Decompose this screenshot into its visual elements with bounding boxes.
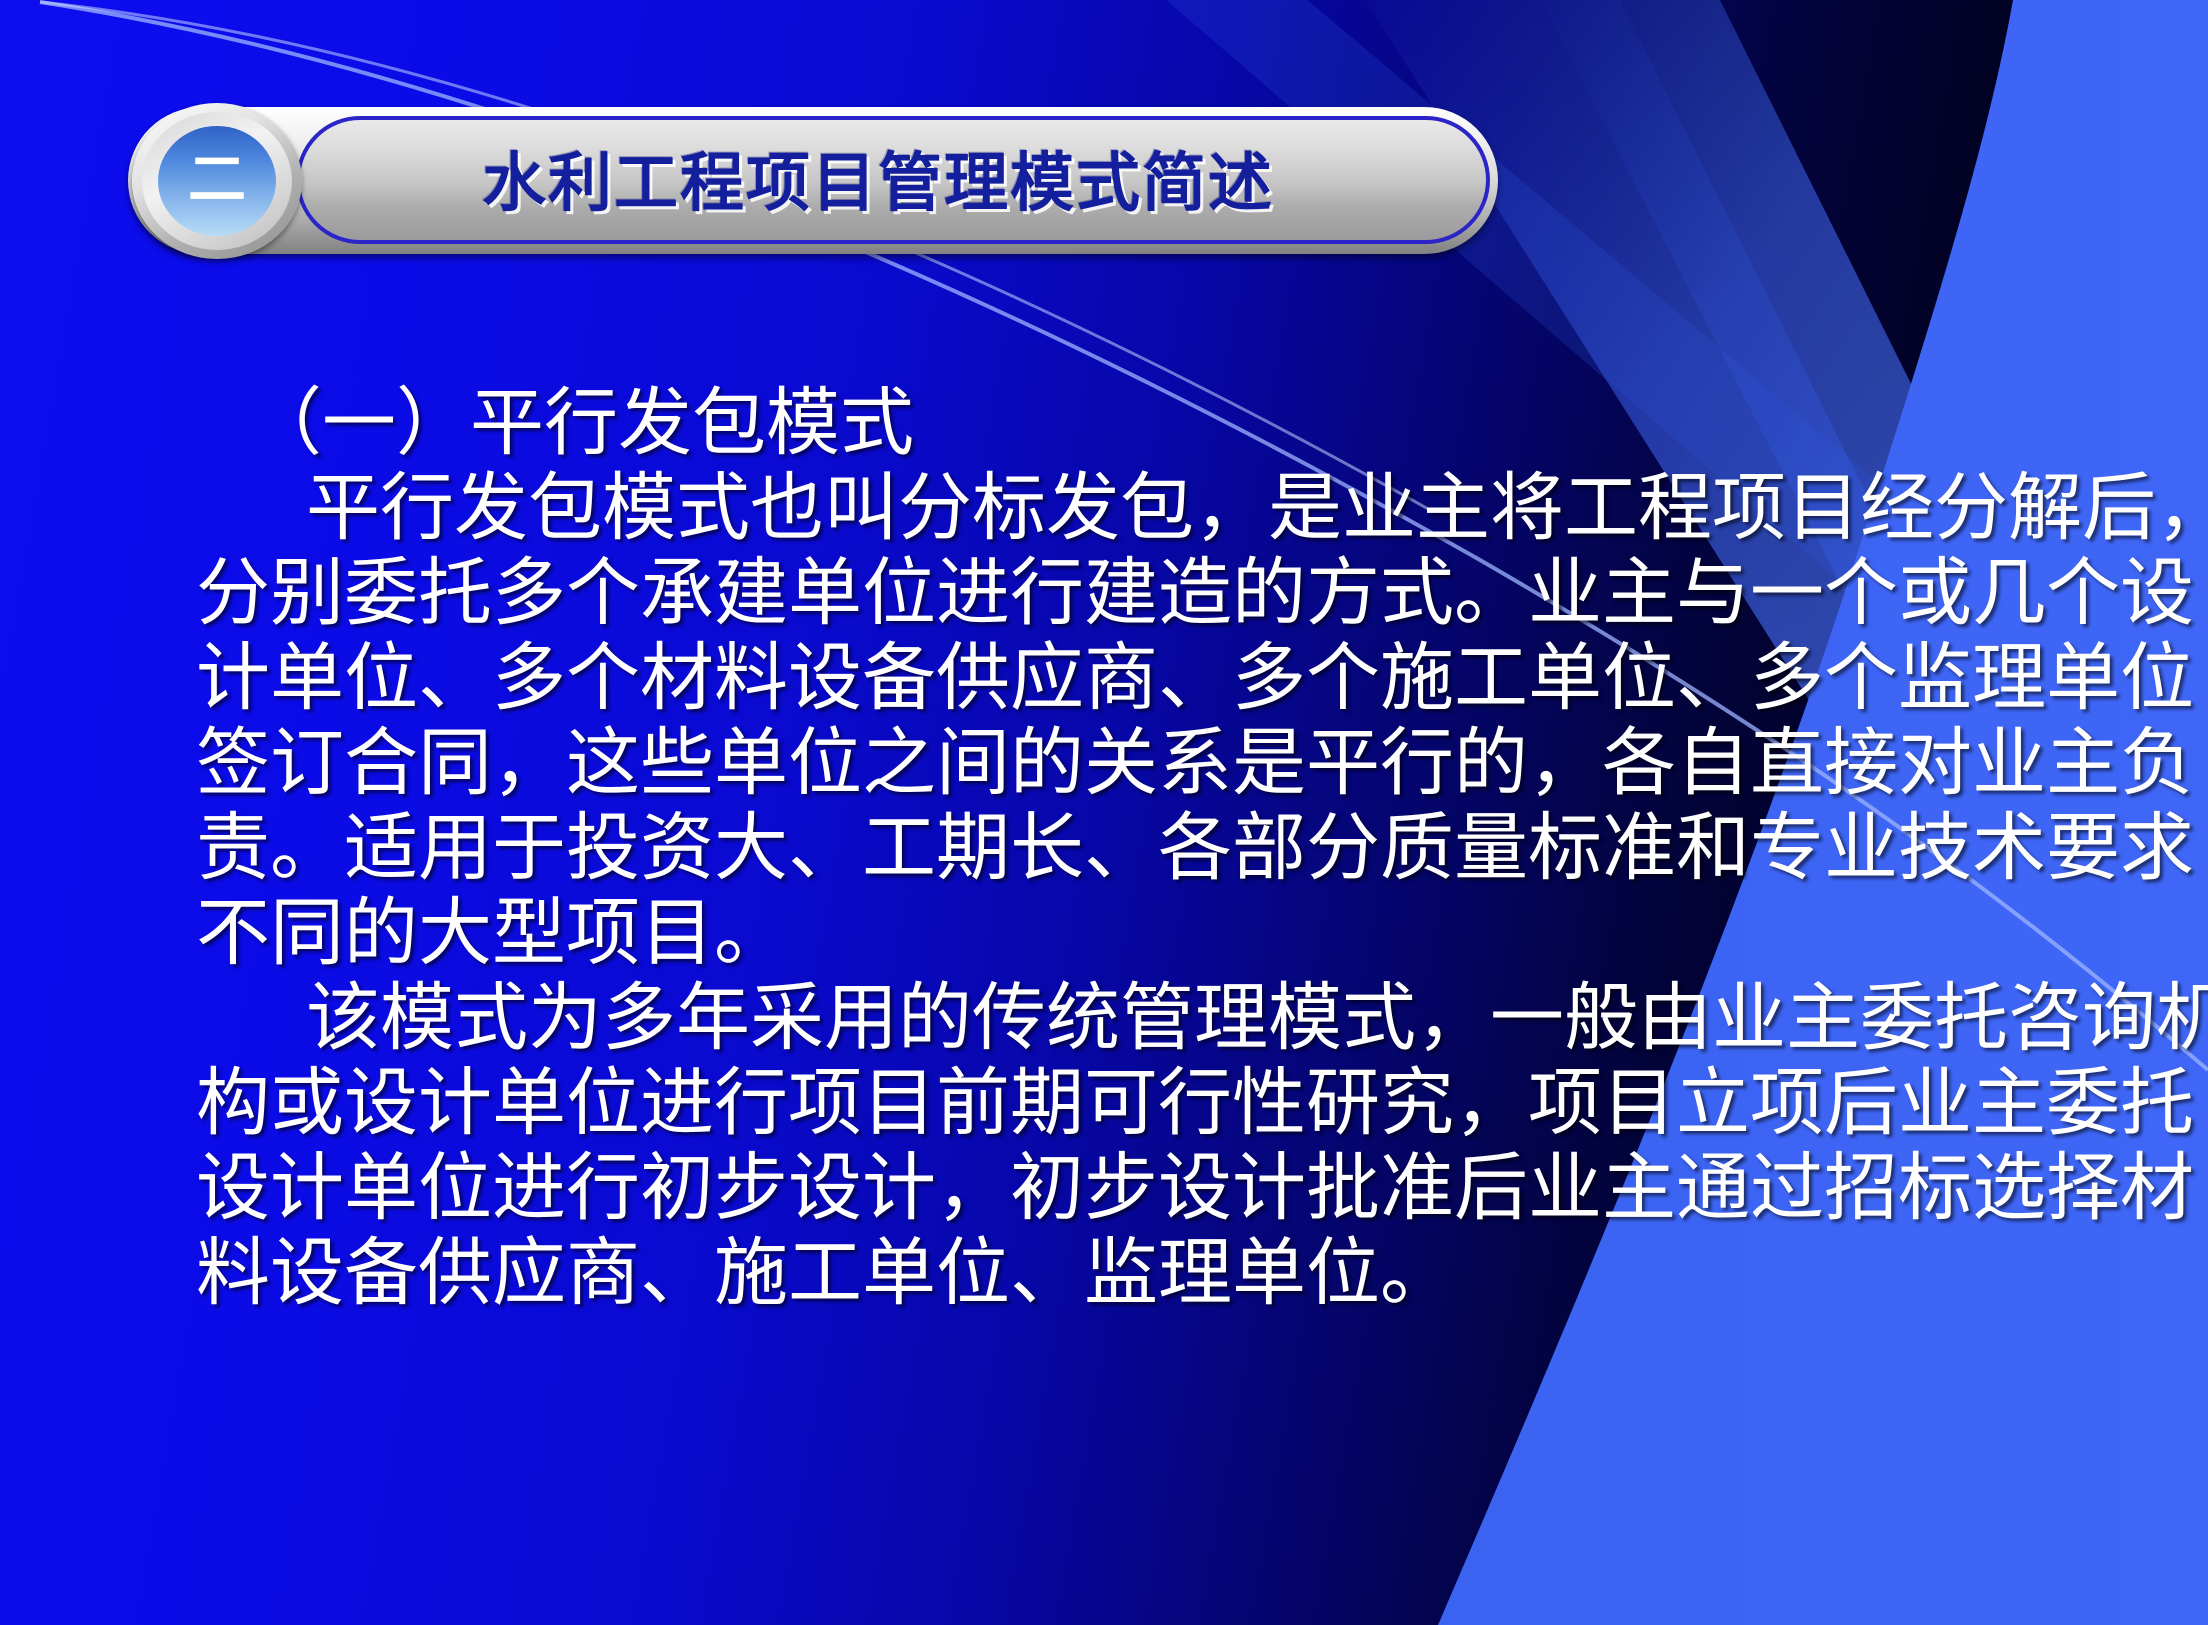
text-line: 不同的大型项目。 <box>196 892 2086 977</box>
badge-core: 二 <box>158 126 276 236</box>
presentation-slide: 水利工程项目管理模式简述 二 （一）平行发包模式 平行发包模式也叫分标发包，是业… <box>0 0 2208 1625</box>
text-line: 签订合同，这些单位之间的关系是平行的，各自直接对业主负 <box>196 722 2086 807</box>
text-line: 料设备供应商、施工单位、监理单位。 <box>196 1232 2086 1317</box>
text-line: 设计单位进行初步设计，初步设计批准后业主通过招标选择材 <box>196 1147 2086 1232</box>
header-title-capsule: 水利工程项目管理模式简述 <box>296 116 1490 244</box>
text-line: 责。适用于投资大、工期长、各部分质量标准和专业技术要求 <box>196 807 2086 892</box>
text-line: 构或设计单位进行项目前期可行性研究，项目立项后业主委托 <box>196 1062 2086 1147</box>
text-line: 计单位、多个材料设备供应商、多个施工单位、多个监理单位 <box>196 637 2086 722</box>
text-line: 平行发包模式也叫分标发包，是业主将工程项目经分解后， <box>196 467 2086 552</box>
text-line: 该模式为多年采用的传统管理模式，一般由业主委托咨询机 <box>196 977 2086 1062</box>
text-line: 分别委托多个承建单位进行建造的方式。业主与一个或几个设 <box>196 552 2086 637</box>
paragraph-1: 平行发包模式也叫分标发包，是业主将工程项目经分解后， 分别委托多个承建单位进行建… <box>196 467 2086 977</box>
page-title: 水利工程项目管理模式简述 <box>482 120 1274 244</box>
content-heading: （一）平行发包模式 <box>196 382 2086 467</box>
badge-numeral: 二 <box>188 150 246 208</box>
section-number-badge: 二 <box>132 103 302 259</box>
slide-body: （一）平行发包模式 平行发包模式也叫分标发包，是业主将工程项目经分解后， 分别委… <box>196 382 2086 1317</box>
slide-header: 水利工程项目管理模式简述 二 <box>128 107 1498 254</box>
paragraph-2: 该模式为多年采用的传统管理模式，一般由业主委托咨询机 构或设计单位进行项目前期可… <box>196 977 2086 1317</box>
